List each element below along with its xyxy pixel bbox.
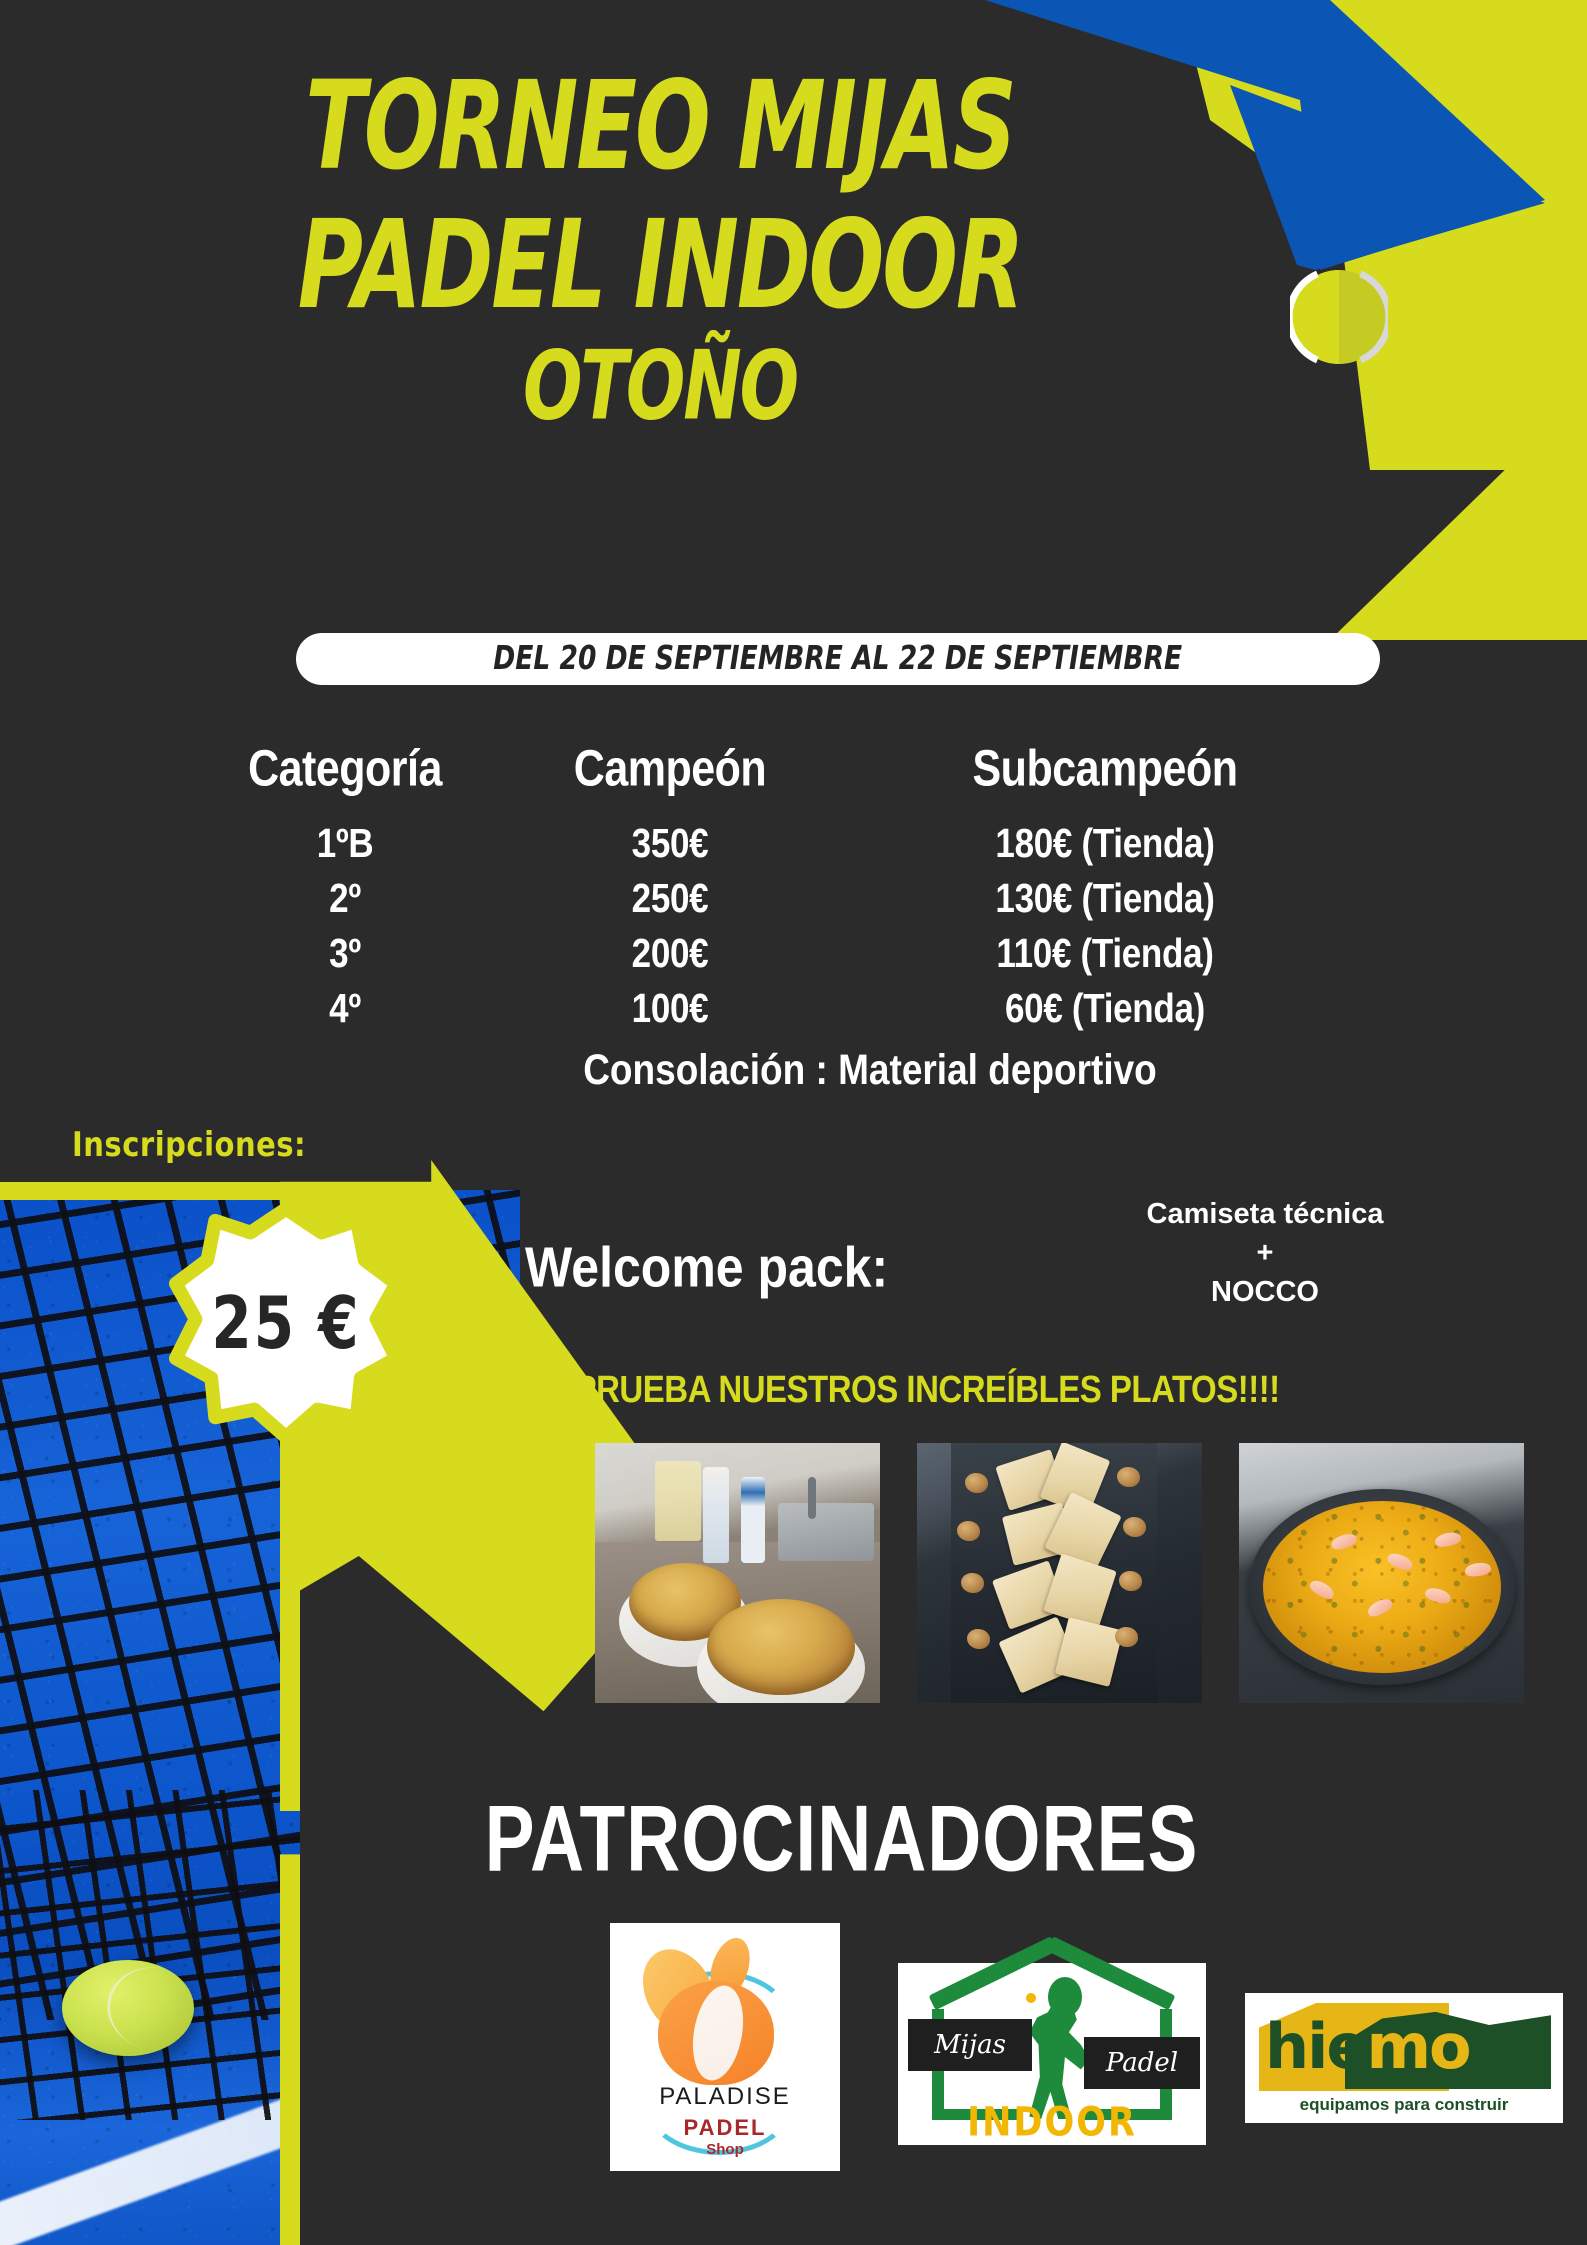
mijas-tag: Mijas [908, 2019, 1032, 2071]
registration-label: Inscripciones: [72, 1124, 306, 1164]
paladise-padel: PADEL [610, 2115, 840, 2141]
cell-subcampeon: 130€ (Tienda) [820, 876, 1390, 922]
pack-item-nocco: NOCCO [1075, 1273, 1455, 1312]
cell-subcampeon: 180€ (Tienda) [820, 821, 1390, 867]
food-photo-gallery [595, 1443, 1525, 1703]
hiemo-tagline: equipamos para construir [1245, 2095, 1563, 2115]
food-headline: Y PRUEBA NUESTROS INCREÍBLES PLATOS!!!! [545, 1367, 1280, 1411]
table-row: 4º 100€ 60€ (Tienda) [170, 989, 1390, 1029]
prize-table: Categoría Campeón Subcampeón 1ºB 350€ 18… [170, 745, 1390, 1091]
consolation-text: Consolación : Material deportivo [170, 1046, 1390, 1095]
paella-rice [1263, 1501, 1501, 1673]
bottle-2 [741, 1477, 765, 1563]
date-banner: DEL 20 DE SEPTIEMBRE AL 22 DE SEPTIEMBRE [296, 633, 1380, 685]
cell-subcampeon: 60€ (Tienda) [820, 986, 1390, 1032]
column-header-campeon: Campeón [520, 741, 820, 799]
table-row: 1ºB 350€ 180€ (Tienda) [170, 824, 1390, 864]
title-line-1: TORNEO MIJAS [0, 71, 1360, 183]
sponsor-logos: PALADISE PADEL Shop Mijas Padel INDOOR h… [0, 1905, 1587, 2185]
tournament-poster: TORNEO MIJAS PADEL INDOOR OTOÑO DEL 20 D… [0, 0, 1587, 2245]
padel-ball-icon [1026, 1993, 1036, 2003]
column-header-subcampeon: Subcampeón [820, 741, 1390, 799]
cell-campeon: 350€ [520, 821, 820, 867]
poster-title: TORNEO MIJAS PADEL INDOOR OTOÑO [0, 88, 1320, 417]
mijas-text: Mijas [934, 2030, 1006, 2060]
sponsor-logo-paladise[interactable]: PALADISE PADEL Shop [610, 1923, 840, 2171]
cell-categoria: 3º [170, 931, 520, 977]
paladise-shop: Shop [610, 2141, 840, 2158]
walnut [965, 1473, 988, 1493]
cell-subcampeon: 110€ (Tienda) [820, 931, 1390, 977]
kitchen-tap [808, 1477, 816, 1519]
walnut [1115, 1627, 1138, 1647]
cell-campeon: 200€ [520, 931, 820, 977]
walnut [1119, 1571, 1142, 1591]
column-header-categoria: Categoría [170, 741, 520, 799]
table-row: 3º 200€ 110€ (Tienda) [170, 934, 1390, 974]
date-banner-text: DEL 20 DE SEPTIEMBRE AL 22 DE SEPTIEMBRE [494, 640, 1183, 678]
food-photo-cheese [917, 1443, 1202, 1703]
walnut [1123, 1517, 1146, 1537]
tortilla [707, 1599, 855, 1695]
cell-campeon: 100€ [520, 986, 820, 1032]
cell-categoria: 1ºB [170, 821, 520, 867]
hiemo-part-a: hie [1265, 2010, 1366, 2083]
pack-item-plus: + [1075, 1234, 1455, 1273]
title-line-3: OTOÑO [0, 343, 1360, 431]
cell-categoria: 2º [170, 876, 520, 922]
walnut [957, 1521, 980, 1541]
paladise-name: PALADISE [610, 2083, 840, 2111]
walnut [961, 1573, 984, 1593]
hiemo-wordmark: hiemo [1265, 2007, 1545, 2085]
sponsors-heading: PATROCINADORES [32, 1784, 1556, 1893]
title-line-2: PADEL INDOOR [0, 210, 1360, 322]
walnut [967, 1629, 990, 1649]
cell-categoria: 4º [170, 986, 520, 1032]
food-bag [655, 1461, 701, 1541]
food-photo-paella [1239, 1443, 1524, 1703]
table-body: 1ºB 350€ 180€ (Tienda) 2º 250€ 130€ (Tie… [170, 824, 1390, 1029]
pack-item-shirt: Camiseta técnica [1075, 1195, 1455, 1234]
registration-price-badge: 25 € [168, 1205, 404, 1441]
indoor-text: INDOOR [898, 2100, 1206, 2146]
welcome-pack-items: Camiseta técnica + NOCCO [1075, 1195, 1455, 1312]
kitchen-sink [778, 1503, 874, 1561]
table-header-row: Categoría Campeón Subcampeón [170, 745, 1390, 794]
sponsor-logo-mijas-padel-indoor[interactable]: Mijas Padel INDOOR [898, 1963, 1206, 2145]
sponsor-logo-hiemo[interactable]: hiemo equipamos para construir [1245, 1993, 1563, 2123]
hiemo-part-b: mo [1366, 2010, 1469, 2083]
registration-price: 25 € [168, 1176, 404, 1471]
food-photo-tortilla [595, 1443, 880, 1703]
welcome-pack-label: Welcome pack: [525, 1234, 888, 1300]
table-row: 2º 250€ 130€ (Tienda) [170, 879, 1390, 919]
cell-campeon: 250€ [520, 876, 820, 922]
padel-tag: Padel [1084, 2037, 1200, 2089]
walnut [1117, 1467, 1140, 1487]
bottle [703, 1467, 729, 1563]
padel-text: Padel [1106, 2048, 1178, 2078]
